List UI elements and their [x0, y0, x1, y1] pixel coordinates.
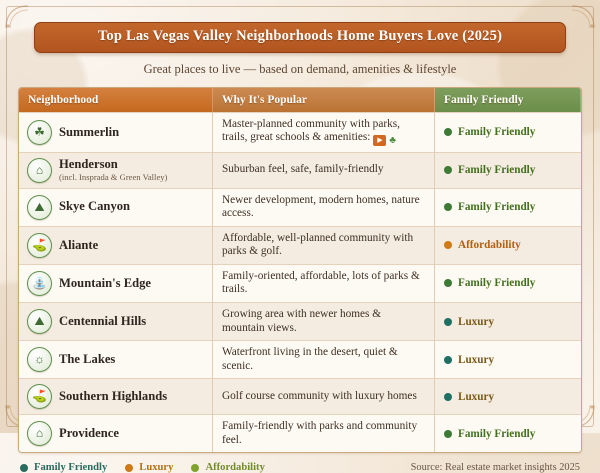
- cell-neighborhood: ⛰Skye Canyon: [19, 188, 213, 226]
- status-badge: Family Friendly: [444, 201, 572, 213]
- cell-why-popular: Golf course community with luxury homes: [213, 378, 435, 414]
- cell-neighborhood: ⌂Providence: [19, 414, 213, 452]
- cell-family-friendly: Family Friendly: [435, 414, 581, 452]
- cell-family-friendly: Family Friendly: [435, 152, 581, 188]
- status-label: Family Friendly: [458, 201, 535, 213]
- cell-why-popular: Family-oriented, affordable, lots of par…: [213, 264, 435, 302]
- status-label: Luxury: [458, 354, 494, 366]
- legend-label-luxury: Luxury: [139, 462, 173, 473]
- status-label: Family Friendly: [458, 428, 535, 440]
- status-badge: Family Friendly: [444, 428, 572, 440]
- hills-circle-icon: ⛰: [27, 309, 52, 334]
- video-icon: ▶: [373, 135, 386, 146]
- cell-neighborhood: ⛳Southern Highlands: [19, 378, 213, 414]
- table-row: ⛰Centennial HillsGrowing area with newer…: [19, 302, 581, 340]
- status-dot: [444, 393, 452, 401]
- page-title: Top Las Vegas Valley Neighborhoods Home …: [45, 29, 555, 45]
- cell-family-friendly: Family Friendly: [435, 264, 581, 302]
- neighborhood-name: Providence: [59, 427, 119, 441]
- legend-label-affordability: Affordability: [205, 462, 264, 473]
- neighborhood-name: Henderson(incl. Insprada & Green Valley): [59, 158, 167, 182]
- legend: Family Friendly Luxury Affordability Sou…: [18, 462, 582, 473]
- neighborhood-name: Southern Highlands: [59, 390, 167, 404]
- neighborhood-name: Aliante: [59, 239, 98, 253]
- why-popular-text: Suburban feel, safe, family-friendly: [222, 163, 384, 175]
- why-popular-text: Golf course community with luxury homes: [222, 390, 417, 402]
- golf-circle-icon: ⛳: [27, 233, 52, 258]
- neighborhood-entry: ⛲Mountain's Edge: [27, 271, 203, 296]
- title-banner: Top Las Vegas Valley Neighborhoods Home …: [34, 22, 566, 53]
- status-dot: [444, 279, 452, 287]
- cell-neighborhood: ⌂Henderson(incl. Insprada & Green Valley…: [19, 152, 213, 188]
- cell-why-popular: Newer development, modern homes, nature …: [213, 188, 435, 226]
- cell-why-popular: Suburban feel, safe, family-friendly: [213, 152, 435, 188]
- house-circle-icon: ⌂: [27, 158, 52, 183]
- neighborhood-name: Summerlin: [59, 126, 119, 140]
- status-badge: Luxury: [444, 354, 572, 366]
- legend-item-family-friendly: Family Friendly: [20, 462, 107, 473]
- legend-dot-luxury: [125, 464, 133, 472]
- neighborhood-entry: ⛰Centennial Hills: [27, 309, 203, 334]
- cell-neighborhood: ⛲Mountain's Edge: [19, 264, 213, 302]
- table-row: ⛲Mountain's EdgeFamily-oriented, afforda…: [19, 264, 581, 302]
- subtitle: Great places to live — based on demand, …: [18, 62, 582, 77]
- neighborhood-entry: ⌂Providence: [27, 421, 203, 446]
- table-row: ⌂ProvidenceFamily-friendly with parks an…: [19, 414, 581, 452]
- cell-family-friendly: Luxury: [435, 302, 581, 340]
- neighborhood-note: (incl. Insprada & Green Valley): [59, 173, 167, 182]
- why-popular-text: Family-oriented, affordable, lots of par…: [222, 270, 420, 296]
- cell-why-popular: Master-planned community with parks, tra…: [213, 112, 435, 152]
- neighborhood-name: Centennial Hills: [59, 315, 146, 329]
- infographic-root: Top Las Vegas Valley Neighborhoods Home …: [0, 0, 600, 433]
- mountain-circle-icon: ⛰: [27, 195, 52, 220]
- cell-why-popular: Affordable, well-planned community with …: [213, 226, 435, 264]
- status-badge: Family Friendly: [444, 126, 572, 138]
- table-row: ☘SummerlinMaster-planned community with …: [19, 112, 581, 152]
- status-dot: [444, 356, 452, 364]
- why-popular-text: Newer development, modern homes, nature …: [222, 194, 420, 220]
- neighborhood-name: Mountain's Edge: [59, 277, 151, 291]
- status-badge: Affordability: [444, 239, 572, 251]
- table-row: ☼The LakesWaterfront living in the deser…: [19, 340, 581, 378]
- neighborhood-entry: ⌂Henderson(incl. Insprada & Green Valley…: [27, 158, 203, 183]
- status-dot: [444, 203, 452, 211]
- tree-icon: ♣: [389, 135, 396, 147]
- neighborhood-entry: ⛳Southern Highlands: [27, 384, 203, 409]
- cell-why-popular: Waterfront living in the desert, quiet &…: [213, 340, 435, 378]
- legend-label-family-friendly: Family Friendly: [34, 462, 107, 473]
- table-row: ⌂Henderson(incl. Insprada & Green Valley…: [19, 152, 581, 188]
- status-badge: Luxury: [444, 316, 572, 328]
- park-circle-icon: ⛲: [27, 271, 52, 296]
- table-row: ⛰Skye CanyonNewer development, modern ho…: [19, 188, 581, 226]
- legend-dot-affordability: [191, 464, 199, 472]
- why-popular-text: Waterfront living in the desert, quiet &…: [222, 346, 398, 372]
- status-badge: Family Friendly: [444, 277, 572, 289]
- water-circle-icon: ☼: [27, 347, 52, 372]
- golfball-circle-icon: ⛳: [27, 384, 52, 409]
- cell-why-popular: Family-friendly with parks and community…: [213, 414, 435, 452]
- status-label: Family Friendly: [458, 126, 535, 138]
- status-label: Affordability: [458, 239, 521, 251]
- neighborhood-entry: ⛰Skye Canyon: [27, 195, 203, 220]
- cell-family-friendly: Luxury: [435, 340, 581, 378]
- neighborhoods-table: Neighborhood Why It's Popular Family Fri…: [18, 87, 582, 453]
- status-dot: [444, 430, 452, 438]
- table-row: ⛳AlianteAffordable, well-planned communi…: [19, 226, 581, 264]
- legend-item-affordability: Affordability: [191, 462, 264, 473]
- source-note: Source: Real estate market insights 2025: [411, 462, 580, 473]
- status-label: Family Friendly: [458, 277, 535, 289]
- home-circle-icon: ⌂: [27, 421, 52, 446]
- cell-family-friendly: Family Friendly: [435, 188, 581, 226]
- neighborhood-name: The Lakes: [59, 353, 115, 367]
- neighborhood-entry: ⛳Aliante: [27, 233, 203, 258]
- status-label: Family Friendly: [458, 164, 535, 176]
- cell-neighborhood: ⛰Centennial Hills: [19, 302, 213, 340]
- cell-family-friendly: Luxury: [435, 378, 581, 414]
- table-header-row: Neighborhood Why It's Popular Family Fri…: [19, 88, 581, 112]
- cell-family-friendly: Family Friendly: [435, 112, 581, 152]
- why-popular-text: Growing area with newer homes & mountain…: [222, 308, 381, 334]
- column-header-family-friendly: Family Friendly: [435, 88, 581, 112]
- cell-family-friendly: Affordability: [435, 226, 581, 264]
- neighborhood-name: Skye Canyon: [59, 200, 130, 214]
- cell-neighborhood: ☘Summerlin: [19, 112, 213, 152]
- status-label: Luxury: [458, 391, 494, 403]
- neighborhood-entry: ☼The Lakes: [27, 347, 203, 372]
- legend-dot-family-friendly: [20, 464, 28, 472]
- neighborhood-entry: ☘Summerlin: [27, 120, 203, 145]
- cell-why-popular: Growing area with newer homes & mountain…: [213, 302, 435, 340]
- tree-circle-icon: ☘: [27, 120, 52, 145]
- column-header-why-popular: Why It's Popular: [213, 88, 435, 112]
- status-badge: Luxury: [444, 391, 572, 403]
- table-row: ⛳Southern HighlandsGolf course community…: [19, 378, 581, 414]
- table-body: ☘SummerlinMaster-planned community with …: [19, 112, 581, 452]
- column-header-neighborhood: Neighborhood: [19, 88, 213, 112]
- status-label: Luxury: [458, 316, 494, 328]
- status-dot: [444, 318, 452, 326]
- legend-item-luxury: Luxury: [125, 462, 173, 473]
- status-dot: [444, 128, 452, 136]
- why-popular-text: Affordable, well-planned community with …: [222, 232, 413, 258]
- status-dot: [444, 241, 452, 249]
- cell-neighborhood: ☼The Lakes: [19, 340, 213, 378]
- cell-neighborhood: ⛳Aliante: [19, 226, 213, 264]
- status-dot: [444, 166, 452, 174]
- status-badge: Family Friendly: [444, 164, 572, 176]
- why-popular-icons: ▶♣: [373, 135, 396, 147]
